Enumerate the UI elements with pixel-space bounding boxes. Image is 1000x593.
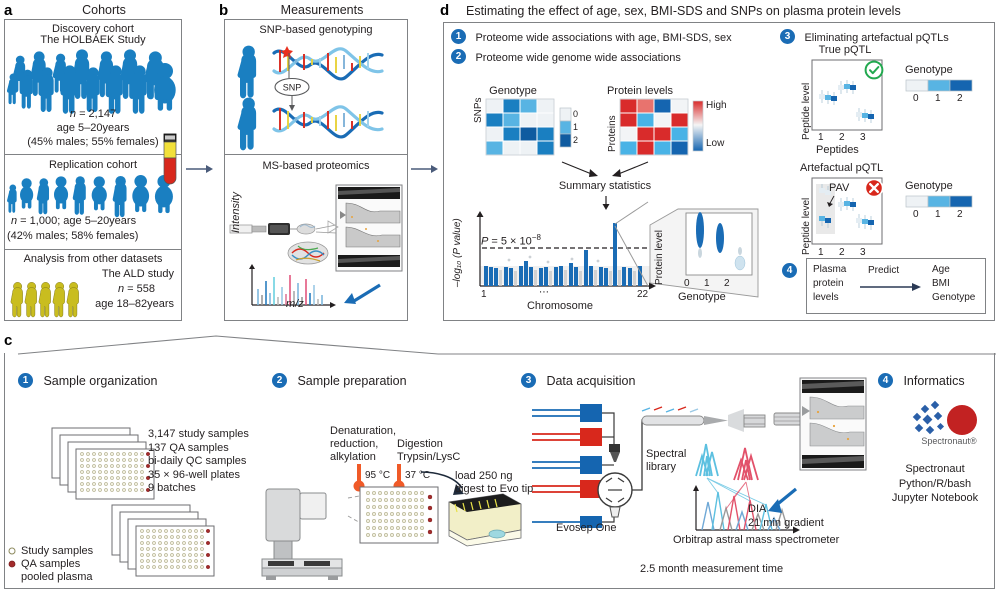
liquid-handler-robot-icon — [260, 485, 350, 580]
c2-step1-line-0: Denaturation, — [330, 425, 396, 438]
protein-scale-high: High — [706, 100, 727, 111]
manhattan-tick-ellipsis: ⋯ — [539, 287, 550, 298]
c1-legend: Study samples QA samples pooled plasma — [8, 545, 93, 583]
step-2-badge: 2 — [451, 49, 466, 64]
spectral-library-line-0: Spectral — [646, 448, 686, 461]
evo-tip-box-icon — [445, 490, 525, 546]
replication-stat-n: n = 1,000; age 5–20years — [11, 215, 136, 227]
section-c3-row: 3 Data acquisition — [521, 372, 635, 390]
predict-source-line-2: levels — [813, 291, 846, 305]
ms-proteomics-title: MS-based proteomics — [224, 160, 408, 172]
ms-proteomics-block: MS-based proteomics — [224, 155, 408, 321]
predict-source-line-0: Plasma — [813, 263, 846, 277]
c2-step1-line-1: reduction, — [330, 438, 396, 451]
artefactual-pqtl-legend-tick-2: 2 — [957, 209, 963, 220]
protein-heatmap-y-axis: Proteins — [607, 115, 618, 152]
predict-target-line-2: Genotype — [932, 291, 975, 305]
true-pqtl-check-icon — [864, 60, 884, 80]
dia-gradient-label: 21 min gradient — [748, 517, 824, 529]
snp-genotyping-diagram: SNP — [230, 41, 406, 149]
ald-people-icons — [10, 280, 90, 320]
section-c4-title: Informatics — [903, 374, 964, 388]
snp-genotyping-block: SNP-based genotyping — [224, 19, 408, 155]
evosep-one-label: Evosep One — [556, 522, 617, 534]
blood-collection-tube-icon — [160, 133, 180, 189]
artefactual-pqtl-legend-scale — [906, 196, 972, 207]
plate-stack-bottom — [112, 505, 217, 580]
step-1-row: 1 Proteome wide associations with age, B… — [451, 28, 732, 46]
panel-a-letter-text: a — [4, 2, 12, 19]
discovery-stat-sex: (45% males; 55% females) — [4, 136, 182, 148]
true-pqtl-y-axis: Peptide level — [801, 83, 812, 140]
c1-legend-label-pooled: pooled plasma — [21, 571, 93, 583]
c4-tool-1: Python/R/bash — [875, 477, 995, 492]
manhattan-threshold-label: P = 5 × 10−8 — [481, 233, 541, 248]
genotype-heatmap-title: Genotype — [470, 85, 556, 97]
inset-tick-2: 2 — [724, 278, 730, 289]
ald-stat-n: n = 558 — [118, 283, 155, 295]
genotype-scale-tick-2: 2 — [573, 134, 578, 147]
svg-text:SNP: SNP — [283, 83, 302, 93]
converging-arrows-icon — [560, 160, 650, 178]
genotype-heatmap-y-axis: SNPs — [473, 97, 484, 123]
inset-x-axis-label: Genotype — [678, 291, 726, 303]
section-c2-title: Sample preparation — [297, 374, 406, 388]
genotype-scale-ticks: 0 1 2 — [573, 108, 578, 147]
c4-tools-list: Spectronaut Python/R/bash Jupyter Notebo… — [875, 462, 995, 506]
summary-down-arrow-icon — [601, 196, 611, 210]
artefactual-pqtl-tick-2: 2 — [839, 247, 845, 258]
c2-temp-95: 95 °C — [365, 470, 390, 481]
section-c2-row: 2 Sample preparation — [272, 372, 407, 390]
figure-root: a Cohorts Discovery cohort The HOLBAEK S… — [0, 0, 1000, 593]
panel-a-title: Cohorts — [14, 3, 194, 17]
section-c3-badge: 3 — [521, 373, 536, 388]
step-4-badge: 4 — [782, 263, 797, 278]
section-c4-row: 4 Informatics — [878, 372, 965, 390]
artefactual-pqtl-title: Artefactual pQTL — [800, 162, 883, 174]
discovery-stat-n: n = 2,147 — [4, 108, 182, 120]
arrow-a-to-b-icon — [186, 163, 214, 175]
open-circle-icon — [8, 547, 16, 555]
step-1-badge: 1 — [451, 29, 466, 44]
dia-arrow-icon — [764, 487, 798, 513]
manhattan-tick-start: 1 — [481, 289, 487, 300]
manhattan-y-axis-label: –log₁₀ (P value) — [452, 218, 463, 287]
c1-stat-1: 137 QA samples — [148, 442, 249, 456]
section-c4-badge: 4 — [878, 373, 893, 388]
filled-circle-icon — [8, 560, 16, 568]
ald-stat-age: age 18–82years — [95, 298, 174, 310]
discovery-people-icons — [4, 51, 182, 107]
spectral-library-line-1: library — [646, 461, 686, 474]
c1-stats-list: 3,147 study samples 137 QA samples bi-da… — [148, 428, 249, 496]
genotype-scale-tick-0: 0 — [573, 108, 578, 121]
c2-step2-line-1: Trypsin/LysC — [397, 451, 460, 464]
artefactual-pqtl-tick-1: 1 — [818, 247, 824, 258]
artefactual-pqtl-y-axis: Peptide level — [801, 198, 812, 255]
other-line2: The ALD study — [102, 268, 174, 280]
protein-scale-low: Low — [706, 138, 724, 149]
predict-target-line-0: Age — [932, 263, 975, 277]
panel-c-letter: c — [4, 332, 12, 350]
step-2-row: 2 Proteome wide genome wide associations — [451, 48, 681, 66]
predict-source-line-1: protein — [813, 277, 846, 291]
panel-d-title: Estimating the effect of age, sex, BMI-S… — [466, 4, 901, 18]
cohort-block-discovery: Discovery cohort The HOLBAEK Study — [4, 19, 182, 155]
section-c1-badge: 1 — [18, 373, 33, 388]
genotype-heatmap-grid — [486, 99, 554, 155]
c1-legend-item-study: Study samples — [8, 545, 93, 557]
instrument-label: Orbitrap astral mass spectrometer — [673, 534, 839, 546]
artefactual-pqtl-legend-tick-1: 1 — [935, 209, 941, 220]
section-c1-title: Sample organization — [43, 374, 157, 388]
panel-a-letter: a — [4, 2, 12, 20]
protein-color-scale — [693, 101, 703, 151]
protein-heatmap-grid — [620, 99, 688, 155]
genotype-color-scale — [560, 108, 571, 147]
c4-tool-2: Jupyter Notebook — [875, 491, 995, 506]
c1-legend-label-study: Study samples — [21, 545, 93, 557]
predict-source: Plasma protein levels — [813, 263, 846, 305]
step-3-label: Eliminating artefactual pQTLs — [804, 32, 948, 44]
evosep-one-diagram — [530, 400, 655, 540]
c4-tool-0: Spectronaut — [875, 462, 995, 477]
true-pqtl-legend-tick-2: 2 — [957, 93, 963, 104]
spectronaut-wordmark: Spectronaut® — [921, 436, 977, 446]
arrow-b-to-d-icon — [411, 163, 439, 175]
panel-d-letter: d — [440, 2, 449, 20]
c1-legend-item-qa: QA samples — [8, 558, 93, 570]
c2-step1-line-2: alkylation — [330, 451, 396, 464]
predict-target: Age BMI Genotype — [932, 263, 975, 305]
predict-target-line-1: BMI — [932, 277, 975, 291]
panel-c-letter-text: c — [4, 332, 12, 349]
cohort-block-other-datasets: Analysis from other datasets The ALD stu… — [4, 250, 182, 321]
inset-tick-0: 0 — [684, 278, 690, 289]
ms-y-axis-label: Intensity — [230, 192, 242, 233]
panel-d-letter-text: d — [440, 2, 449, 19]
artefactual-pqtl-tick-3: 3 — [860, 247, 866, 258]
c2-step1-labels: Denaturation, reduction, alkylation — [330, 425, 396, 464]
protein-heatmap-title: Protein levels — [594, 85, 686, 97]
replication-people-icons — [6, 176, 182, 216]
true-pqtl-legend-title: Genotype — [905, 64, 953, 76]
panel-b-letter: b — [219, 2, 228, 20]
pav-label: PAV — [829, 182, 849, 194]
spectronaut-logo-icon: Spectronaut® — [908, 400, 990, 452]
discovery-stat-age: age 5–20years — [4, 122, 182, 134]
manhattan-x-axis-label: Chromosome — [470, 300, 650, 312]
replication-line1: Replication cohort — [4, 159, 182, 171]
inset-tick-1: 1 — [704, 278, 710, 289]
true-pqtl-tick-3: 3 — [860, 132, 866, 143]
step-3-badge: 3 — [780, 29, 795, 44]
artefactual-pqtl-cross-icon — [864, 178, 884, 198]
c1-stat-0: 3,147 study samples — [148, 428, 249, 442]
inset-y-axis-label: Protein level — [654, 230, 665, 285]
section-c1-row: 1 Sample organization — [18, 372, 157, 390]
step-4-badge-wrap: 4 — [782, 262, 797, 280]
summary-statistics-label: Summary statistics — [520, 180, 690, 192]
c2-step2-line-0: Digestion — [397, 438, 460, 451]
c2-load-line-0: load 250 ng — [455, 470, 533, 483]
measurement-time-label: 2.5 month measurement time — [640, 563, 783, 575]
step-2-label: Proteome wide genome wide associations — [475, 52, 680, 64]
artefactual-pqtl-legend-title: Genotype — [905, 180, 953, 192]
true-pqtl-legend-tick-0: 0 — [913, 93, 919, 104]
artefactual-pqtl-legend-tick-0: 0 — [913, 209, 919, 220]
snp-genotyping-title: SNP-based genotyping — [224, 24, 408, 36]
ms-instrument-diagram — [228, 181, 406, 317]
c1-stat-4: 9 batches — [148, 482, 249, 496]
true-pqtl-x-axis: Peptides — [816, 144, 859, 156]
genotype-scale-tick-1: 1 — [573, 121, 578, 134]
true-pqtl-legend-tick-1: 1 — [935, 93, 941, 104]
c1-legend-label-qa: QA samples — [21, 558, 80, 570]
section-c2-badge: 2 — [272, 373, 287, 388]
true-pqtl-tick-2: 2 — [839, 132, 845, 143]
panel-b-title: Measurements — [232, 3, 412, 17]
section-c3-title: Data acquisition — [546, 374, 635, 388]
plate-stack-top — [52, 428, 157, 503]
dia-label: DIA — [748, 503, 766, 515]
predict-arrow-icon — [860, 281, 922, 293]
discovery-line2: The HOLBAEK Study — [4, 34, 182, 46]
ms-x-axis-label: m/z — [286, 298, 304, 310]
panel-b-letter-text: b — [219, 2, 228, 19]
other-line1: Analysis from other datasets — [4, 253, 182, 265]
c1-stat-2: bi-daily QC samples — [148, 455, 249, 469]
spectral-library-label: Spectral library — [646, 448, 686, 474]
true-pqtl-tick-1: 1 — [818, 132, 824, 143]
c2-step2-labels: Digestion Trypsin/LysC — [397, 438, 460, 464]
true-pqtl-title: True pQTL — [800, 44, 890, 56]
c1-stat-3: 35 × 96-well plates — [148, 469, 249, 483]
cohort-block-replication: Replication cohort n = 1,000; age 5–20ye… — [4, 155, 182, 250]
replication-stat-sex: (42% males; 58% females) — [7, 230, 138, 242]
step-1-label: Proteome wide associations with age, BMI… — [475, 32, 731, 44]
c2-well-plate-icon — [360, 487, 438, 543]
true-pqtl-legend-scale — [906, 80, 972, 91]
manhattan-tick-end: 22 — [637, 289, 648, 300]
predict-arrow-label: Predict — [868, 265, 899, 276]
